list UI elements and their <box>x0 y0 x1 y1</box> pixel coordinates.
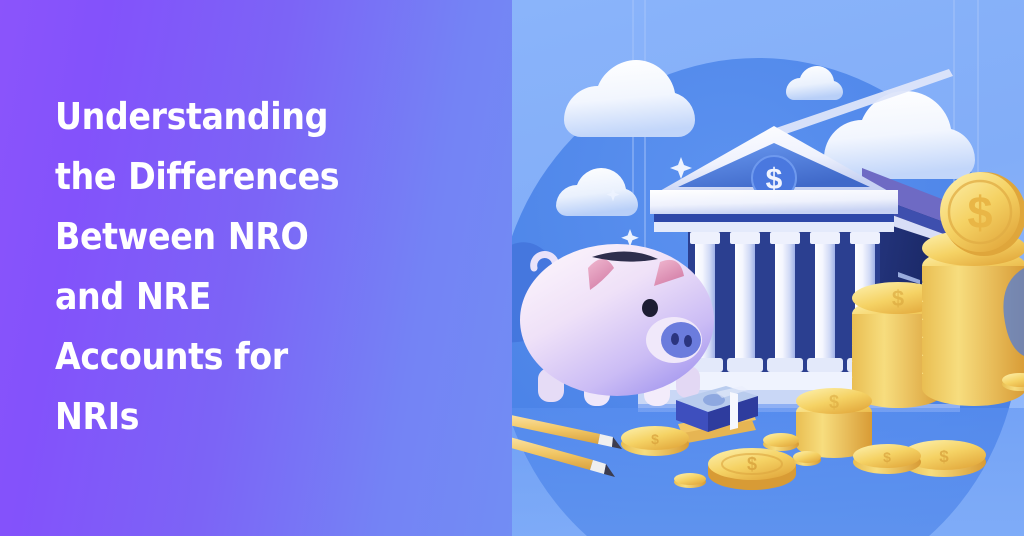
page-title: Understanding the Differences Between NR… <box>55 87 455 447</box>
piggy-snout-face <box>661 322 701 358</box>
finance-illustration: $ <box>512 0 1024 536</box>
svg-text:$: $ <box>967 187 992 238</box>
svg-text:$: $ <box>747 454 757 474</box>
coin-stack: $ <box>796 388 872 458</box>
loose-coin <box>793 451 821 466</box>
piggy-eye <box>642 299 658 317</box>
loose-coin <box>674 473 706 488</box>
svg-text:$: $ <box>651 431 659 447</box>
svg-text:$: $ <box>829 392 839 412</box>
left-gradient-panel: Understanding the Differences Between NR… <box>0 0 512 536</box>
bank-architrave <box>650 190 898 214</box>
loose-coin: $ <box>708 448 796 490</box>
piggy-bank <box>520 244 714 406</box>
banner: Understanding the Differences Between NR… <box>0 0 1024 536</box>
loose-coin: $ <box>853 444 921 474</box>
svg-text:$: $ <box>883 449 891 465</box>
piggy-nostril <box>684 335 692 347</box>
loose-coin: $ <box>621 426 689 456</box>
piggy-nostril <box>671 333 679 345</box>
illustration-panel: $ <box>512 0 1024 536</box>
loose-coin <box>763 433 799 451</box>
architrave-band2 <box>654 222 894 232</box>
svg-text:$: $ <box>939 447 949 466</box>
architrave-band <box>654 214 894 222</box>
svg-text:$: $ <box>892 286 904 311</box>
